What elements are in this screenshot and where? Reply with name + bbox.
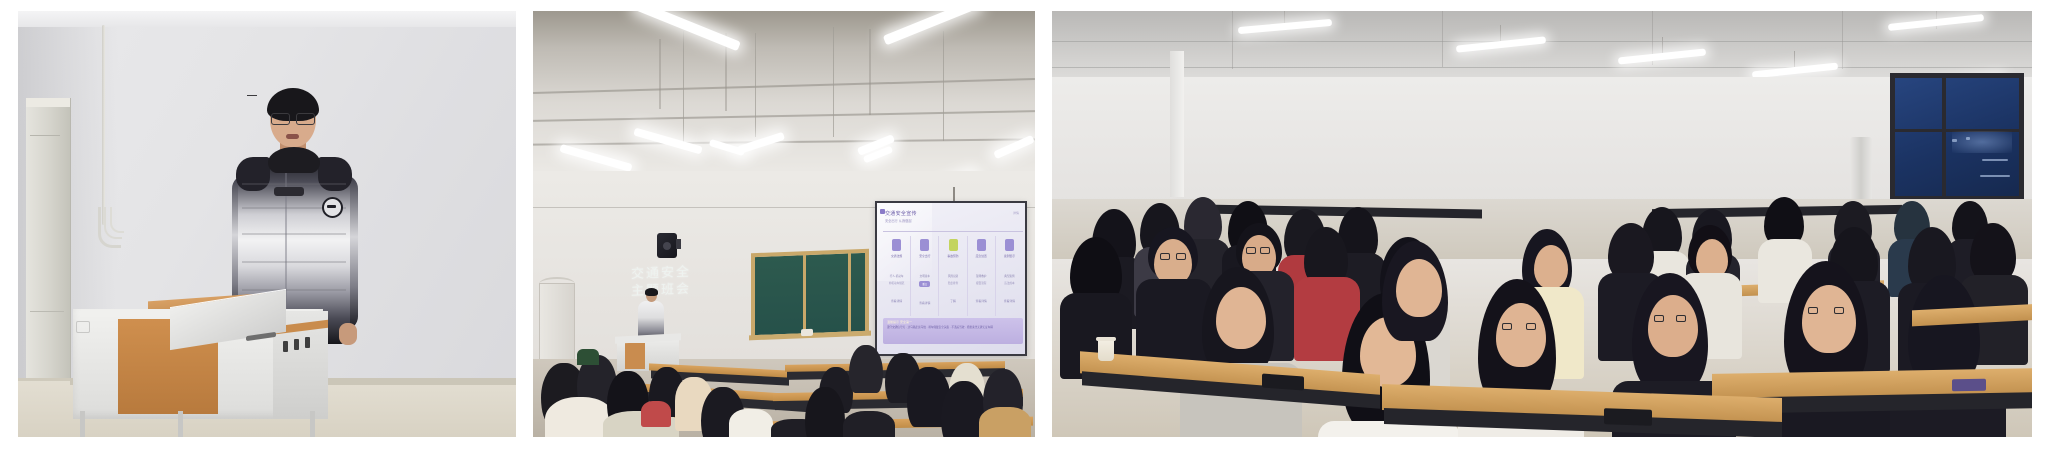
column-icon	[977, 239, 986, 251]
slide-title: 交通安全宣传	[885, 210, 917, 217]
student-silhouette	[641, 401, 671, 427]
blackboard-divider	[848, 253, 851, 331]
projector-screen: 交通安全宣传 安全出行 从我做起 详情 交通法规 行人 机动车 非机动车规范 查…	[875, 201, 1027, 356]
ceiling-band	[18, 11, 516, 27]
radiator	[1850, 137, 1872, 203]
column-line-1: 风险识别	[948, 274, 958, 278]
ceiling	[533, 11, 1035, 179]
jacket-quilt-seam	[242, 183, 346, 185]
slide-subtitle: 安全出行 从我做起	[885, 218, 912, 223]
jacket-quilt-seam	[242, 233, 346, 235]
column-label: 交通法规	[891, 254, 902, 258]
slide-column: 事故预防 风险识别 隐患排查 了解	[939, 236, 967, 316]
column-label: 应急处置	[976, 254, 987, 258]
window-exterior-light	[1980, 175, 2010, 177]
jacket-quilt-seam	[242, 261, 346, 263]
speaker-mount	[676, 239, 681, 249]
blackboard-divider	[803, 255, 806, 333]
column-line-2: 违法成本	[1004, 281, 1014, 285]
window-mullion-vertical	[1942, 73, 1946, 201]
paper-cup-lid	[1096, 337, 1116, 341]
door-arch	[539, 277, 575, 291]
light-hanger-rod	[943, 31, 944, 141]
student-silhouette	[849, 345, 883, 393]
window-exterior-light	[1966, 137, 1970, 140]
lectern-control-button	[283, 341, 288, 352]
slide-column: 交通法规 行人 机动车 非机动车规范 查看详情	[883, 236, 911, 316]
lectern-leg	[80, 411, 85, 437]
teacher-hair	[645, 288, 658, 296]
student-cap	[577, 349, 599, 365]
column-line-2: 隐患排查	[948, 281, 958, 285]
column-icon	[949, 239, 958, 251]
column-line-2: 非机动车规范	[889, 281, 905, 285]
wall-speaker-icon	[657, 233, 677, 258]
wall-cabinet-column	[26, 98, 71, 398]
jacket-hood-left	[236, 157, 270, 191]
student-silhouette	[979, 407, 1031, 437]
column-icon	[1005, 239, 1014, 251]
column-footer: 了解	[950, 299, 956, 303]
column-label: 事故预防	[947, 254, 958, 258]
ceiling-cross-beam	[659, 39, 661, 109]
student-silhouette	[843, 411, 895, 437]
panel-student-audience	[1052, 11, 2032, 437]
cabinet-seam	[30, 135, 60, 136]
window-exterior-light	[1982, 159, 2008, 161]
jacket-quilt-seam	[242, 289, 346, 291]
column-footer: 查看详情	[976, 299, 987, 303]
light-hanger-rod	[833, 27, 834, 137]
light-hanger-rod	[683, 31, 684, 143]
lectern-control-button	[294, 339, 299, 350]
mobile-phone	[1262, 374, 1304, 391]
window-exterior-glow	[1952, 131, 2012, 153]
cabinet-seam-lower	[30, 311, 64, 312]
column-line-1: 行人 机动车	[890, 274, 904, 278]
blackboard-eraser	[801, 329, 813, 336]
column-line-1: 文明乘车	[920, 274, 930, 278]
slide-top-right-label: 详情	[1013, 211, 1019, 215]
eyeglasses-icon	[271, 113, 315, 123]
slide-column: 案例警示 典型案例 违法成本 查看详情	[996, 236, 1023, 316]
column-line-1: 现场救护	[976, 274, 986, 278]
lectern-control-button	[305, 337, 310, 348]
slide-divider	[883, 231, 1023, 232]
column-label: 案例警示	[1004, 254, 1015, 258]
column-footer: 查看详情	[891, 299, 902, 303]
banner-body: 遵守交通信号灯 · 过马路走斑马线 · 骑车佩戴安全头盔 · 不酒后驾驶 · 拒…	[887, 326, 1019, 330]
mobile-phone	[1952, 379, 1986, 392]
slide-bottom-banner: 温馨提示 安全第一 遵守交通信号灯 · 过马路走斑马线 · 骑车佩戴安全头盔 ·…	[883, 318, 1023, 344]
blackboard	[751, 249, 869, 340]
lectern-leg	[178, 411, 183, 437]
column-icon	[892, 239, 901, 251]
column-pill-badge: 重点	[919, 281, 930, 287]
slide-column: 安全出行 文明乘车 重点 查看详情	[911, 236, 939, 316]
jacket-collar	[268, 147, 320, 173]
side-wall	[1052, 77, 2032, 207]
instructor-mouth	[286, 134, 299, 139]
wall-conduit-pipe	[102, 25, 105, 225]
column-label: 安全出行	[919, 254, 930, 258]
ceiling-cross-seam	[1842, 11, 1843, 69]
paper-cup	[1098, 339, 1114, 361]
jacket-hood-right	[318, 157, 352, 191]
student-silhouette	[729, 409, 773, 437]
front-lectern-wood-panel	[625, 343, 645, 369]
window-exterior-light	[1952, 139, 1957, 142]
side-door	[539, 283, 575, 361]
column-line-1: 典型案例	[1004, 274, 1014, 278]
column-icon	[920, 239, 929, 251]
conduit-bend-3	[110, 207, 124, 233]
ceiling-cross-beam	[869, 29, 871, 115]
instructor-right-hand	[339, 323, 357, 345]
ceiling-seam	[1052, 67, 2032, 68]
lectern-leg	[310, 411, 315, 437]
banner-title: 温馨提示 安全第一	[887, 320, 1019, 324]
light-hanger-rod	[755, 33, 756, 137]
jacket-chest-pocket	[274, 187, 304, 196]
photo-collage: 交通安全 主题班会 交通安全宣传 安全出行 从我做起 详情 交通法规 行人 机动…	[0, 0, 2048, 455]
column-footer: 查看详情	[919, 301, 930, 305]
ceiling-cross-seam	[1442, 11, 1443, 67]
wall-pillar	[1170, 51, 1184, 197]
ceiling-cross-seam	[1232, 11, 1233, 69]
panel-presenter-at-lectern	[18, 11, 516, 437]
column-line-2: 报警流程	[976, 281, 986, 285]
eyeglasses-bridge	[247, 95, 257, 96]
slide-columns: 交通法规 行人 机动车 非机动车规范 查看详情 安全出行 文明乘车 重点 查看详…	[883, 236, 1023, 316]
ceiling	[1052, 11, 2032, 81]
slide-column: 应急处置 现场救护 报警流程 查看详情	[968, 236, 996, 316]
mobile-phone	[1604, 408, 1652, 426]
column-footer: 查看详情	[1004, 299, 1015, 303]
panel-classroom-wide-shot: 交通安全 主题班会 交通安全宣传 安全出行 从我做起 详情 交通法规 行人 机动…	[533, 11, 1035, 437]
jacket-sleeve-badge-icon	[322, 197, 343, 218]
lectern-side-panel	[76, 321, 90, 333]
cabinet-top	[26, 98, 70, 107]
